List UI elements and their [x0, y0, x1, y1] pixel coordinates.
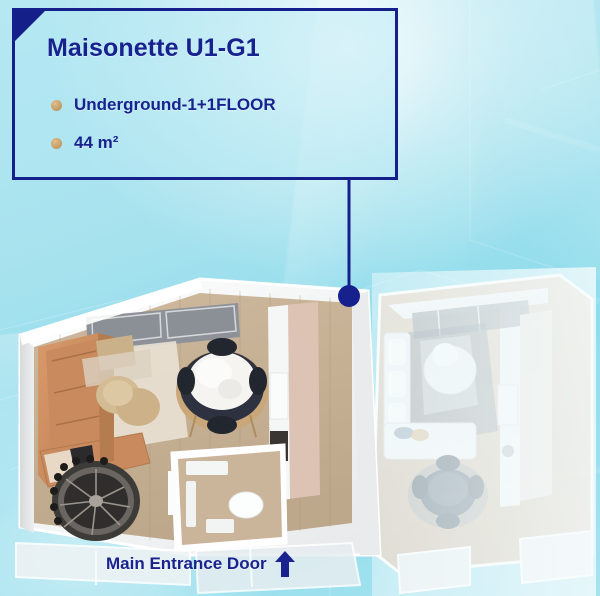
bullet-dot-icon [51, 100, 62, 111]
callout-title: Maisonette U1-G1 [47, 34, 260, 63]
list-item: Underground-1+1FLOOR [51, 95, 381, 115]
main-entrance-annotation: Main Entrance Door [106, 551, 295, 577]
arrow-up-icon [275, 551, 295, 577]
unit-neighbor-faded [372, 267, 596, 596]
callout-detail-list: Underground-1+1FLOOR 44 m² [51, 95, 381, 171]
corner-fold-decoration [15, 11, 45, 41]
bathroom [168, 445, 286, 551]
bullet-dot-icon [51, 138, 62, 149]
unit-info-callout[interactable]: Maisonette U1-G1 Underground-1+1FLOOR 44… [12, 8, 398, 180]
callout-detail-area: 44 m² [74, 133, 118, 153]
main-entrance-label: Main Entrance Door [106, 554, 267, 574]
list-item: 44 m² [51, 133, 381, 153]
floorplan-render [0, 255, 600, 596]
callout-detail-floors: Underground-1+1FLOOR [74, 95, 276, 115]
unit-u1-g1-highlighted [16, 279, 380, 593]
scene-stage: Maisonette U1-G1 Underground-1+1FLOOR 44… [0, 0, 600, 596]
